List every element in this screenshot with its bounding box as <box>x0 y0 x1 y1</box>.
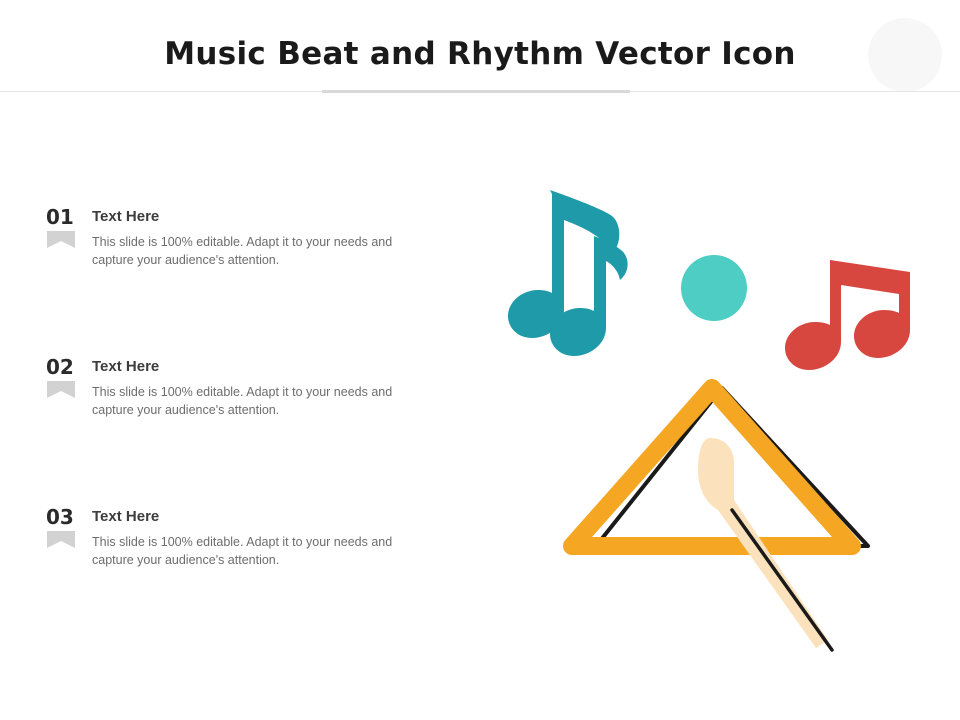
page-title-text: Music Beat and Rhythm Vector Icon <box>164 36 796 72</box>
list-item-number: 01 <box>46 205 74 229</box>
page-title: Music Beat and Rhythm Vector Icon <box>0 36 960 72</box>
bookmark-icon <box>47 381 75 398</box>
list-item-number: 03 <box>46 505 74 529</box>
list-item-body: This slide is 100% editable. Adapt it to… <box>92 383 422 419</box>
slide-canvas: Music Beat and Rhythm Vector Icon 01 Tex… <box>0 0 960 720</box>
text-list: 01 Text Here This slide is 100% editable… <box>46 205 446 581</box>
list-item-body: This slide is 100% editable. Adapt it to… <box>92 233 422 269</box>
list-item[interactable]: 02 Text Here This slide is 100% editable… <box>46 355 446 431</box>
list-item-title: Text Here <box>92 508 159 525</box>
teal-circle-knob-icon <box>681 255 747 321</box>
bookmark-icon <box>47 231 75 248</box>
music-beat-rhythm-illustration <box>490 160 940 660</box>
red-double-note-icon <box>785 260 910 370</box>
bookmark-icon <box>47 531 75 548</box>
list-item-number: 02 <box>46 355 74 379</box>
list-item-title: Text Here <box>92 208 159 225</box>
list-item[interactable]: 03 Text Here This slide is 100% editable… <box>46 505 446 581</box>
list-item[interactable]: 01 Text Here This slide is 100% editable… <box>46 205 446 281</box>
title-divider-accent <box>322 90 630 93</box>
list-item-body: This slide is 100% editable. Adapt it to… <box>92 533 422 569</box>
teal-double-note-icon <box>508 190 628 356</box>
list-item-title: Text Here <box>92 358 159 375</box>
